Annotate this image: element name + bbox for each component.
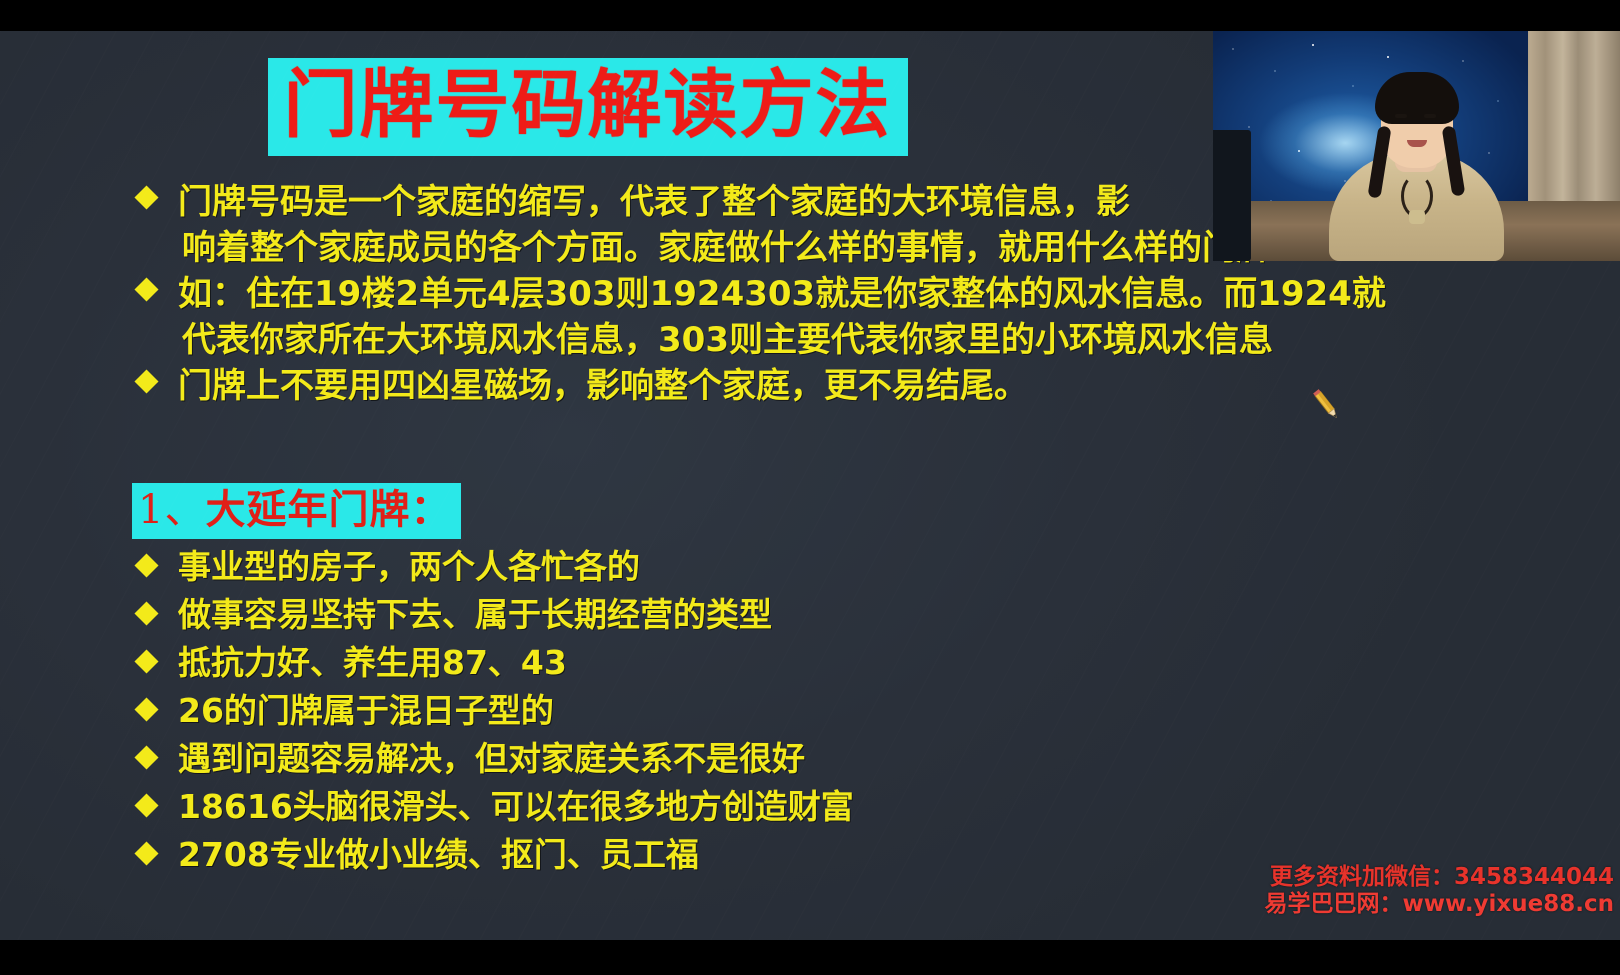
video-overlay-webcam[interactable] bbox=[1213, 0, 1620, 261]
list-item: 事业型的房子，两个人各忙各的 bbox=[132, 543, 1282, 591]
presenter-eye-left bbox=[1395, 114, 1407, 118]
list-item-label: 2708专业做小业绩、抠门、员工福 bbox=[178, 835, 699, 874]
section1-bullet-list: 事业型的房子，两个人各忙各的 做事容易坚持下去、属于长期经营的类型 抵抗力好、养… bbox=[132, 543, 1282, 879]
section-heading-container: 1、大延年门牌： bbox=[132, 483, 461, 539]
list-item: 18616头脑很滑头、可以在很多地方创造财富 bbox=[132, 783, 1282, 831]
diamond-bullet-icon bbox=[134, 277, 158, 301]
list-item: 门牌上不要用四凶星磁场，影响整个家庭，更不易结尾。 bbox=[132, 363, 1452, 409]
presenter-eye-right bbox=[1424, 114, 1436, 118]
diamond-bullet-icon bbox=[134, 601, 158, 625]
list-item: 2708专业做小业绩、抠门、员工福 bbox=[132, 831, 1282, 879]
video-letterbox-top bbox=[1213, 0, 1620, 31]
presenter-figure bbox=[1329, 70, 1504, 261]
list-item-label: 18616头脑很滑头、可以在很多地方创造财富 bbox=[178, 787, 854, 826]
list-item-label: 26的门牌属于混日子型的 bbox=[178, 691, 554, 730]
list-item-label: 事业型的房子，两个人各忙各的 bbox=[178, 547, 640, 586]
list-item-label: 遇到问题容易解决，但对家庭关系不是很好 bbox=[178, 739, 805, 778]
bullet-line-2: 代表你家所在大环境风水信息，303则主要代表你家里的小环境风水信息 bbox=[178, 317, 1452, 363]
letterbox-bottom bbox=[0, 940, 1620, 975]
monitor-edge bbox=[1213, 130, 1251, 261]
watermark-site: 易学巴巴网：www.yixue88.cn bbox=[1265, 891, 1614, 918]
pencil-cursor-icon bbox=[1306, 385, 1346, 425]
watermark-wechat: 更多资料加微信：3458344044 bbox=[1265, 864, 1614, 891]
bullet-line-1: 门牌上不要用四凶星磁场，影响整个家庭，更不易结尾。 bbox=[178, 366, 1028, 406]
diamond-bullet-icon bbox=[134, 697, 158, 721]
bullet-line-1: 门牌号码是一个家庭的缩写，代表了整个家庭的大环境信息，影 bbox=[178, 182, 1130, 222]
page-title: 门牌号码解读方法 bbox=[268, 58, 908, 156]
screen-root: 门牌号码解读方法 门牌号码是一个家庭的缩写，代表了整个家庭的大环境信息，影 响着… bbox=[0, 0, 1620, 975]
diamond-bullet-icon bbox=[134, 745, 158, 769]
slide-title-container: 门牌号码解读方法 bbox=[0, 58, 1175, 156]
list-item: 做事容易坚持下去、属于长期经营的类型 bbox=[132, 591, 1282, 639]
section-heading: 1、大延年门牌： bbox=[132, 483, 461, 539]
diamond-bullet-icon bbox=[134, 649, 158, 673]
list-item: 如：住在19楼2单元4层303则1924303就是你家整体的风水信息。而1924… bbox=[132, 271, 1452, 363]
bullet-line-1: 如：住在19楼2单元4层303则1924303就是你家整体的风水信息。而1924… bbox=[178, 274, 1386, 314]
section-heading-text: 大延年门牌： bbox=[205, 487, 451, 533]
list-item-label: 抵抗力好、养生用87、43 bbox=[178, 643, 567, 682]
diamond-bullet-icon bbox=[134, 369, 158, 393]
presenter-pendant bbox=[1409, 210, 1425, 224]
list-item-label: 做事容易坚持下去、属于长期经营的类型 bbox=[178, 595, 772, 634]
watermark: 更多资料加微信：3458344044 易学巴巴网：www.yixue88.cn bbox=[1265, 864, 1614, 918]
section-number: 1、 bbox=[138, 487, 205, 533]
diamond-bullet-icon bbox=[134, 553, 158, 577]
diamond-bullet-icon bbox=[134, 793, 158, 817]
list-item: 26的门牌属于混日子型的 bbox=[132, 687, 1282, 735]
list-item: 抵抗力好、养生用87、43 bbox=[132, 639, 1282, 687]
presenter-hair bbox=[1375, 72, 1459, 124]
diamond-bullet-icon bbox=[134, 185, 158, 209]
diamond-bullet-icon bbox=[134, 841, 158, 865]
list-item: 遇到问题容易解决，但对家庭关系不是很好 bbox=[132, 735, 1282, 783]
